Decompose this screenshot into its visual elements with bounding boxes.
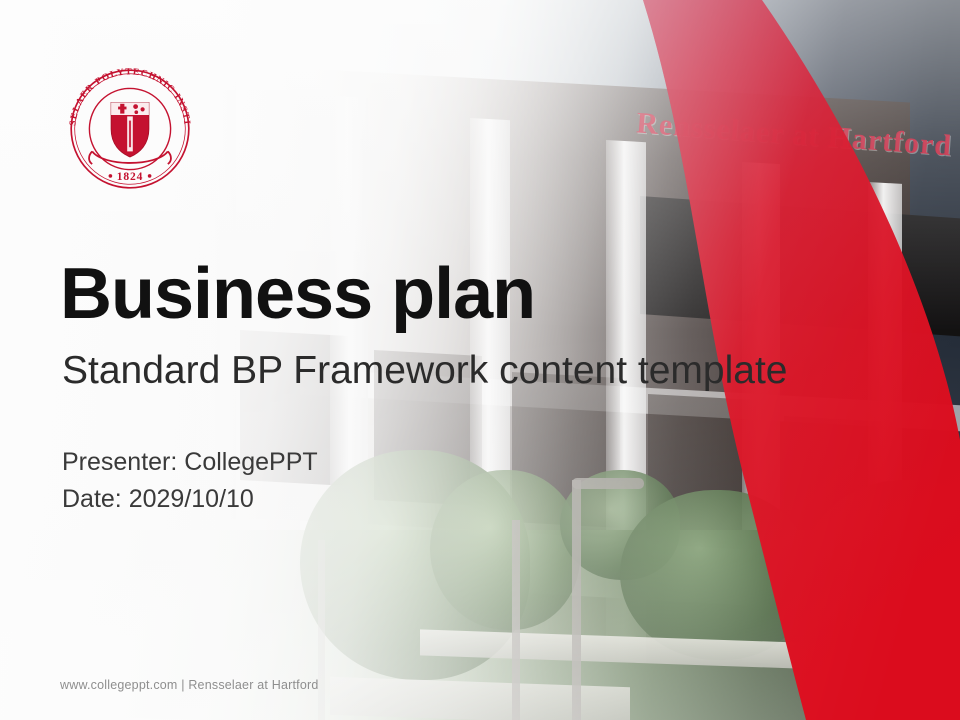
presentation-meta: Presenter: CollegePPT Date: 2029/10/10 — [62, 444, 318, 517]
footer-credit: www.collegeppt.com | Rensselaer at Hartf… — [60, 678, 318, 692]
rpi-seal-icon: RENSSELAER POLYTECHNIC INSTITUTE 1824 — [60, 58, 200, 200]
page-title: Business plan — [60, 258, 535, 330]
rpi-seal-logo: RENSSELAER POLYTECHNIC INSTITUTE 1824 — [60, 58, 200, 200]
seal-year-text: 1824 — [117, 171, 143, 183]
title-slide: Rensselaer at Hartford — [0, 0, 960, 720]
date-line: Date: 2029/10/10 — [62, 481, 318, 518]
page-subtitle: Standard BP Framework content template — [62, 350, 787, 393]
presenter-line: Presenter: CollegePPT — [62, 444, 318, 481]
